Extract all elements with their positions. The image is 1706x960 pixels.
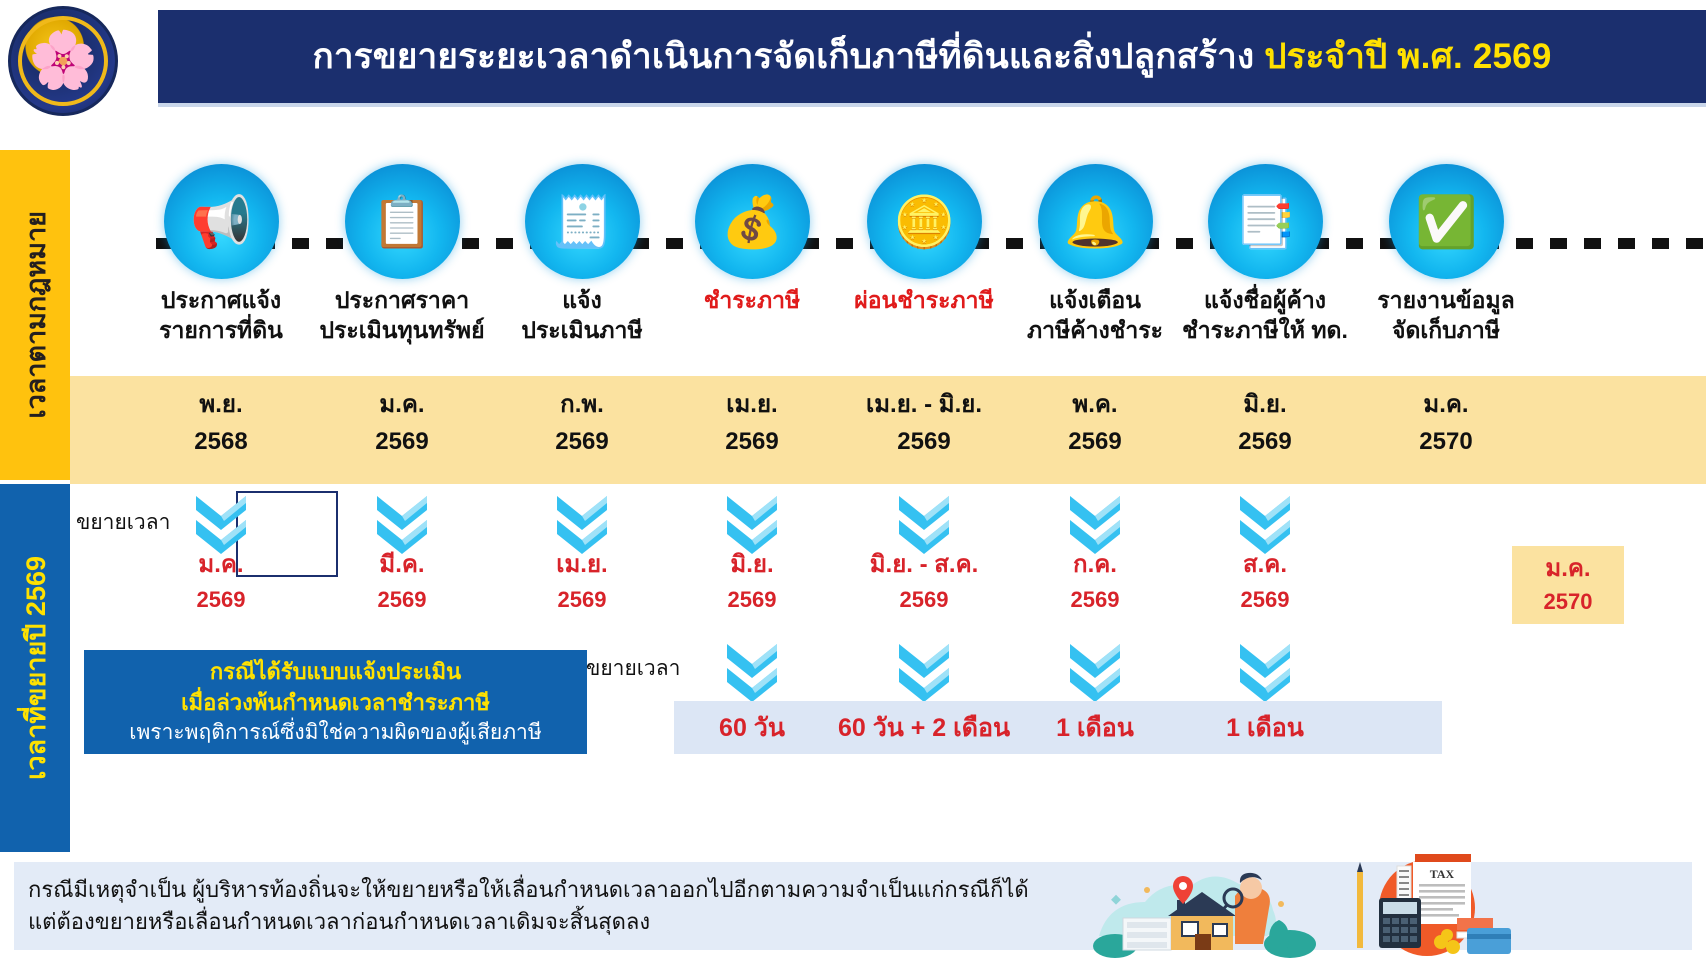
timeline-step-label: ผ่อนชำระภาษี <box>824 285 1024 315</box>
timeline-step-label: แจ้งชื่อผู้ค้างชำระภาษีให้ ทด. <box>1165 285 1365 346</box>
double-chevron-down-icon <box>1236 642 1294 706</box>
alert-bell-icon-glyph: 🔔 <box>1064 197 1126 247</box>
tax-document-calculator-illustration: TAX <box>1335 852 1515 958</box>
extended-date-month: ม.ค. <box>121 547 321 583</box>
side-label-extended-text: เวลาที่ขยายปี 2569 <box>14 556 57 780</box>
timeline-step-label-line1: รายงานข้อมูล <box>1346 285 1546 315</box>
timeline-step-label-line1: แจ้งชื่อผู้ค้าง <box>1165 285 1365 315</box>
statutory-date-year: 2570 <box>1336 423 1556 460</box>
side-label-extended-time: เวลาที่ขยายปี 2569 <box>0 484 70 852</box>
extended-date-month: มิ.ย. - ส.ค. <box>824 547 1024 583</box>
megaphone-icon-glyph: 📢 <box>190 197 252 247</box>
tax-calculator-icon-glyph: 🧾 <box>551 197 613 247</box>
timeline-step-label-line2: รายการที่ดิน <box>121 315 321 345</box>
double-chevron-down-icon <box>723 642 781 706</box>
extended-date-year: 2569 <box>1165 583 1365 616</box>
header-underline <box>158 103 1706 107</box>
note-line-1: กรณีได้รับแบบแจ้งประเมิน <box>210 656 461 687</box>
timeline-step-label: ชำระภาษี <box>652 285 852 315</box>
duration-strip: 60 วัน60 วัน + 2 เดือน1 เดือน1 เดือน <box>674 701 1442 754</box>
extended-date-year: 2569 <box>824 583 1024 616</box>
tax-calculator-icon: 🧾 <box>525 164 640 279</box>
tax-form-list-icon-glyph: 📑 <box>1234 197 1296 247</box>
house-inspection-illustration <box>1085 866 1325 958</box>
money-bag-hand-icon-glyph: 💰 <box>721 197 783 247</box>
garuda-glyph: 🌸 <box>28 32 98 88</box>
timeline-step-label-line2: จัดเก็บภาษี <box>1346 315 1546 345</box>
extended-date-cell: มิ.ย. - ส.ค.2569 <box>824 547 1024 616</box>
extended-date-cell: ส.ค.2569 <box>1165 547 1365 616</box>
extended-date-month: ส.ค. <box>1165 547 1365 583</box>
timeline-step-label-line1: ประกาศราคา <box>302 285 502 315</box>
infographic-page: 🌸 การขยายระยะเวลาดำเนินการจัดเก็บภาษีที่… <box>0 0 1706 960</box>
tax-form-list-icon: 📑 <box>1208 164 1323 279</box>
double-chevron-down-icon <box>895 642 953 706</box>
duration-cell: 1 เดือน <box>1155 701 1375 754</box>
extended-date-cell: มี.ค.2569 <box>302 547 502 616</box>
extension-area: ขยายเวลา ม.ค.2569มี.ค.2569เม.ย.2569มิ.ย.… <box>70 484 1706 852</box>
note-line-2: เมื่อล่วงพ้นกำหนดเวลาชำระภาษี <box>181 687 490 718</box>
timeline-step-label: รายงานข้อมูลจัดเก็บภาษี <box>1346 285 1546 346</box>
svg-text:TAX: TAX <box>1430 867 1455 881</box>
garuda-seal-icon: 🌸 <box>8 6 118 116</box>
checklist-report-icon: ✅ <box>1389 164 1504 279</box>
timeline-step-label-line2: ชำระภาษีให้ ทด. <box>1165 315 1365 345</box>
double-chevron-down-icon <box>1066 642 1124 706</box>
timeline-step-label-line2: ประเมินทุนทรัพย์ <box>302 315 502 345</box>
page-title: การขยายระยะเวลาดำเนินการจัดเก็บภาษีที่ดิ… <box>312 29 1551 84</box>
extended-date-tag-final: ม.ค. 2570 <box>1512 546 1624 624</box>
page-title-main: การขยายระยะเวลาดำเนินการจัดเก็บภาษีที่ดิ… <box>312 37 1254 76</box>
timeline-step-label: ประกาศราคาประเมินทุนทรัพย์ <box>302 285 502 346</box>
hand-coin-icon-glyph: 🪙 <box>893 197 955 247</box>
extended-date-year: 2569 <box>121 583 321 616</box>
timeline-step-label-line2: ประเมินภาษี <box>482 315 682 345</box>
side-label-statutory-text: เวลาตามกฎหมาย <box>14 211 57 419</box>
extended-date-year: 2569 <box>302 583 502 616</box>
timeline-step-label-line1: ผ่อนชำระภาษี <box>824 285 1024 315</box>
extended-tag-year: 2570 <box>1544 586 1593 618</box>
alert-bell-icon: 🔔 <box>1038 164 1153 279</box>
header-bar: การขยายระยะเวลาดำเนินการจัดเก็บภาษีที่ดิ… <box>158 10 1706 103</box>
extend-word-label-row2: ขยายเวลา <box>586 652 680 685</box>
hand-coin-icon: 🪙 <box>867 164 982 279</box>
page-title-highlight: ประจำปี พ.ศ. 2569 <box>1264 37 1551 76</box>
timeline-step-label-line1: ชำระภาษี <box>652 285 852 315</box>
checklist-report-icon-glyph: ✅ <box>1415 197 1477 247</box>
extend-word-label-row1: ขยายเวลา <box>76 506 170 539</box>
clipboard-person-icon: 📋 <box>345 164 460 279</box>
statutory-date-month: ม.ค. <box>1336 386 1556 423</box>
timeline-step-label: ประกาศแจ้งรายการที่ดิน <box>121 285 321 346</box>
side-label-statutory-time: เวลาตามกฎหมาย <box>0 150 70 480</box>
statutory-date-band: พ.ย.2568ม.ค.2569ก.พ.2569เม.ย.2569เม.ย. -… <box>70 376 1706 484</box>
statutory-date-cell: ม.ค.2570 <box>1336 386 1556 460</box>
timeline-step-label-line1: ประกาศแจ้ง <box>121 285 321 315</box>
extended-date-year: 2569 <box>652 583 852 616</box>
money-bag-hand-icon: 💰 <box>695 164 810 279</box>
megaphone-icon: 📢 <box>164 164 279 279</box>
assessment-note-box: กรณีได้รับแบบแจ้งประเมิน เมื่อล่วงพ้นกำห… <box>84 650 587 754</box>
timeline-nodes: 📢ประกาศแจ้งรายการที่ดิน📋ประกาศราคาประเมิ… <box>70 150 1706 376</box>
extended-date-month: มิ.ย. <box>652 547 852 583</box>
extended-date-cell: มิ.ย.2569 <box>652 547 852 616</box>
note-line-3: เพราะพฤติการณ์ซึ่งมิใช่ความผิดของผู้เสีย… <box>129 718 541 748</box>
timeline-area: 📢ประกาศแจ้งรายการที่ดิน📋ประกาศราคาประเมิ… <box>70 150 1706 376</box>
clipboard-person-icon-glyph: 📋 <box>371 197 433 247</box>
extended-tag-month: ม.ค. <box>1545 552 1590 587</box>
extended-date-cell: ม.ค.2569 <box>121 547 321 616</box>
extended-date-month: มี.ค. <box>302 547 502 583</box>
